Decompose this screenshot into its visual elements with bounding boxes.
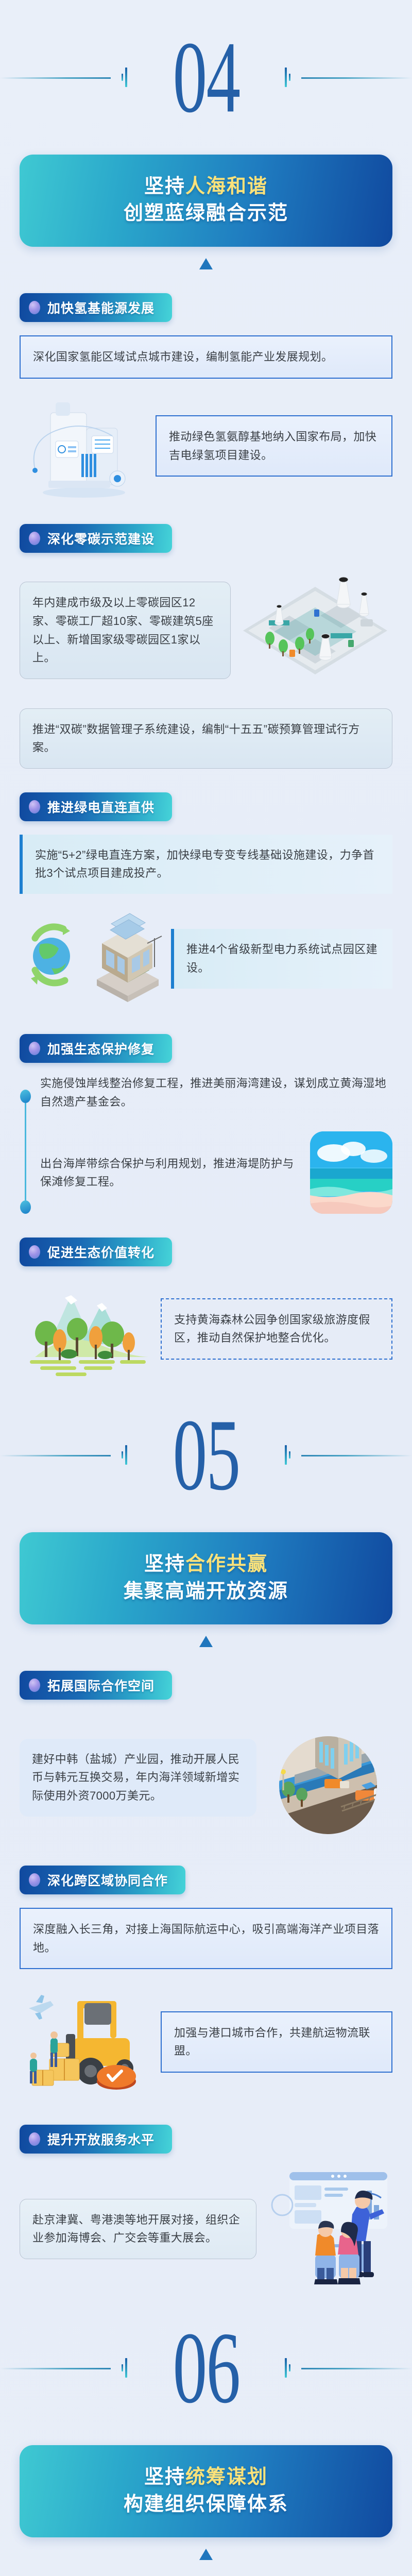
rail-dot-icon <box>20 1090 31 1103</box>
caret-down-icon <box>199 258 213 269</box>
body-text: 深化国家氢能区域试点城市建设，编制氢能产业发展规划。 <box>33 348 379 366</box>
divider-tick-left <box>122 67 127 87</box>
body-text: 推动绿色氢氨醇基地纳入国家布局，加快吉电绿氢项目建设。 <box>169 428 379 464</box>
content-block: 建好中韩（盐城）产业园，推动开展人民币与韩元互换交易，年内海洋领域新增实际使用外… <box>0 1700 412 1842</box>
section-banner-04: 坚持人海和谐 创塑蓝绿融合示范 <box>20 155 392 247</box>
banner-line-2: 集聚高端开放资源 <box>30 1578 382 1605</box>
divider-tick-left <box>122 1445 127 1465</box>
bullet-dot-icon <box>29 301 40 314</box>
subsection-pill-open-service[interactable]: 提升开放服务水平 <box>20 2125 172 2154</box>
subsection-heading-wrap: 促进生态价值转化 <box>0 1214 412 1266</box>
subsection-pill-green-power[interactable]: 推进绿电直连直供 <box>20 792 172 821</box>
hydrogen-plant-illustration <box>20 392 148 500</box>
banner-line1-highlight: 合作共赢 <box>185 1553 268 1575</box>
bullet-dot-icon <box>29 1245 40 1259</box>
body-text: 支持黄海森林公园争创国家级旅游度假区，推动自然保护地整合优化。 <box>174 1311 379 1347</box>
section-divider-05: 05 <box>0 1378 412 1532</box>
pill-label: 深化跨区域协同合作 <box>47 1871 168 1889</box>
green-energy-building-illustration <box>20 907 164 1010</box>
subsection-heading-wrap: 拓展国际合作空间 <box>0 1647 412 1700</box>
content-block: 推动绿色氢氨醇基地纳入国家布局，加快吉电绿氢项目建设。 <box>0 379 412 500</box>
rail-dot-icon <box>20 1200 31 1214</box>
body-text: 赴京津冀、粤港澳等地开展对接，组织企业参加海博会、广交会等重大展会。 <box>32 2211 244 2247</box>
divider-rule-right <box>301 2368 412 2369</box>
banner-line-2: 创塑蓝绿融合示范 <box>30 200 382 227</box>
divider-tick-right <box>285 2358 290 2378</box>
bullet-dot-icon <box>29 2132 40 2146</box>
bullet-dot-icon <box>29 1042 40 1055</box>
text-card: 加强与港口城市合作，共建航运物流联盟。 <box>161 2011 392 2073</box>
pill-label: 加快氢基能源发展 <box>47 298 154 317</box>
body-text: 实施侵蚀岸线整治修复工程，推进美丽海湾建设，谋划成立黄海湿地自然遗产基金会。 <box>40 1072 392 1131</box>
subsection-pill-international[interactable]: 拓展国际合作空间 <box>20 1671 172 1700</box>
subsection-heading-wrap: 完善组织推进机制 <box>0 2560 412 2576</box>
banner-line1-plain: 坚持 <box>144 1553 185 1575</box>
banner-line1-highlight: 人海和谐 <box>185 176 268 197</box>
content-block: 推进“双碳”数据管理子系统建设，编制“十五五”碳预算管理试行方案。 <box>0 695 412 769</box>
content-block: 深化国家氢能区域试点城市建设，编制氢能产业发展规划。 <box>0 322 412 379</box>
caret-down-icon <box>199 1636 213 1647</box>
caret-down-icon <box>199 2549 213 2560</box>
pill-label: 提升开放服务水平 <box>47 2130 154 2148</box>
body-text: 出台海岸带综合保护与利用规划，推进海堤防护与保滩修复工程。 <box>40 1155 303 1191</box>
rail-line <box>25 1103 26 1200</box>
banner-line1-plain: 坚持 <box>144 176 185 197</box>
section-number: 04 <box>173 26 239 128</box>
content-block: 支持黄海森林公园争创国家级旅游度假区，推动自然保护地整合优化。 <box>0 1266 412 1378</box>
section-banner-06: 坚持统筹谋划 构建组织保障体系 <box>20 2445 392 2537</box>
pill-label: 深化零碳示范建设 <box>47 529 154 548</box>
infographic-page: 04 坚持人海和谐 创塑蓝绿融合示范 加快氢基能源发展 深化国家氢能区域试点城市… <box>0 0 412 2576</box>
text-illustration-row: 年内建成市级及以上零碳园区12家、零碳工厂超10家、零碳建筑5座以上、新增国家级… <box>20 566 392 695</box>
banner-line-1: 坚持统筹谋划 <box>30 2464 382 2490</box>
divider-rule-left <box>0 2368 111 2369</box>
forest-park-illustration <box>20 1280 153 1378</box>
subsection-heading-wrap: 推进绿电直连直供 <box>0 769 412 821</box>
beach-photo-illustration <box>310 1131 392 1214</box>
subsection-heading-wrap: 深化零碳示范建设 <box>0 500 412 553</box>
text-illustration-row: 建好中韩（盐城）产业园，推动开展人民币与韩元互换交易，年内海洋领域新增实际使用外… <box>20 1713 392 1842</box>
body-text: 推进4个省级新型电力系统试点园区建设。 <box>186 940 380 977</box>
divider-tick-left <box>122 2358 127 2378</box>
text-illustration-row: 出台海岸带综合保护与利用规划，推进海堤防护与保滩修复工程。 <box>40 1131 392 1214</box>
divider-tick-right <box>285 67 290 87</box>
divider-rule-right <box>301 1455 412 1456</box>
subsection-heading-wrap: 加快氢基能源发展 <box>0 269 412 322</box>
pill-label: 推进绿电直连直供 <box>47 798 154 816</box>
bullet-dot-icon <box>29 1873 40 1887</box>
pill-label: 促进生态价值转化 <box>47 1243 154 1261</box>
subsection-pill-eco-restore[interactable]: 加强生态保护修复 <box>20 1034 172 1063</box>
illustration-text-row: 支持黄海森林公园争创国家级旅游度假区，推动自然保护地整合优化。 <box>20 1280 392 1378</box>
divider-rule-left <box>0 1455 111 1456</box>
content-block: 年内建成市级及以上零碳园区12家、零碳工厂超10家、零碳建筑5座以上、新增国家级… <box>0 553 412 695</box>
body-text: 建好中韩（盐城）产业园，推动开展人民币与韩元互换交易，年内海洋领域新增实际使用外… <box>32 1750 244 1805</box>
bullet-dot-icon <box>29 1679 40 1692</box>
subsection-pill-eco-value[interactable]: 促进生态价值转化 <box>20 1238 172 1266</box>
subsection-pill-hydrogen[interactable]: 加快氢基能源发展 <box>20 293 172 322</box>
banner-line1-plain: 坚持 <box>144 2466 185 2488</box>
text-card: 深化国家氢能区域试点城市建设，编制氢能产业发展规划。 <box>20 335 392 379</box>
subsection-pill-cross-region[interactable]: 深化跨区域协同合作 <box>20 1866 185 1894</box>
content-block: 加强与港口城市合作，共建航运物流联盟。 <box>0 1969 412 2101</box>
bullet-dot-icon <box>29 800 40 814</box>
industrial-park-illustration <box>264 1713 392 1842</box>
banner-line-1: 坚持人海和谐 <box>30 173 382 200</box>
subsection-pill-zero-carbon[interactable]: 深化零碳示范建设 <box>20 524 172 553</box>
text-card: 实施“5+2”绿电直连方案，加快绿电专变专线基础设施建设，力争首批3个试点项目建… <box>20 835 392 894</box>
timeline-rail <box>20 1072 31 1214</box>
illustration-text-row: 推动绿色氢氨醇基地纳入国家布局，加快吉电绿氢项目建设。 <box>20 392 392 500</box>
divider-rule-left <box>0 77 111 79</box>
content-block-rail: 实施侵蚀岸线整治修复工程，推进美丽海湾建设，谋划成立黄海湿地自然遗产基金会。 出… <box>0 1063 412 1214</box>
text-card: 建好中韩（盐城）产业园，推动开展人民币与韩元互换交易，年内海洋领域新增实际使用外… <box>20 1739 256 1817</box>
section-number: 05 <box>173 1404 239 1506</box>
section-divider-04: 04 <box>0 0 412 155</box>
pill-label: 拓展国际合作空间 <box>47 1676 154 1694</box>
section-number: 06 <box>173 2317 239 2419</box>
text-card: 赴京津冀、粤港澳等地开展对接，组织企业参加海博会、广交会等重大展会。 <box>20 2199 256 2259</box>
divider-tick-right <box>285 1445 290 1465</box>
subsection-heading-wrap: 提升开放服务水平 <box>0 2101 412 2154</box>
text-card: 推进“双碳”数据管理子系统建设，编制“十五五”碳预算管理试行方案。 <box>20 708 392 769</box>
text-card: 推进4个省级新型电力系统试点园区建设。 <box>171 929 392 988</box>
pill-label: 加强生态保护修复 <box>47 1039 154 1058</box>
content-block: 赴京津冀、粤港澳等地开展对接，组织企业参加海博会、广交会等重大展会。 <box>0 2154 412 2291</box>
section-banner-05: 坚持合作共赢 集聚高端开放资源 <box>20 1532 392 1624</box>
divider-rule-right <box>301 77 412 79</box>
illustration-text-row: 加强与港口城市合作，共建航运物流联盟。 <box>20 1982 392 2101</box>
body-text: 年内建成市级及以上零碳园区12家、零碳工厂超10家、零碳建筑5座以上、新增国家级… <box>32 594 218 667</box>
text-card: 年内建成市级及以上零碳园区12家、零碳工厂超10家、零碳建筑5座以上、新增国家级… <box>20 582 231 679</box>
content-block: 推进4个省级新型电力系统试点园区建设。 <box>0 894 412 1010</box>
banner-line-2: 构建组织保障体系 <box>30 2491 382 2518</box>
business-meeting-illustration <box>264 2167 392 2291</box>
subsection-heading-wrap: 深化跨区域协同合作 <box>0 1842 412 1894</box>
zero-carbon-park-illustration <box>238 566 392 695</box>
banner-line1-highlight: 统筹谋划 <box>185 2466 268 2488</box>
illustration-text-row: 推进4个省级新型电力系统试点园区建设。 <box>20 907 392 1010</box>
text-illustration-row: 赴京津冀、粤港澳等地开展对接，组织企业参加海博会、广交会等重大展会。 <box>20 2167 392 2291</box>
body-text: 深度融入长三角，对接上海国际航运中心，吸引高端海洋产业项目落地。 <box>33 1920 379 1957</box>
body-text: 加强与港口城市合作，共建航运物流联盟。 <box>174 2024 379 2060</box>
bullet-dot-icon <box>29 532 40 545</box>
text-card: 支持黄海森林公园争创国家级旅游度假区，推动自然保护地整合优化。 <box>161 1298 392 1360</box>
content-block: 实施“5+2”绿电直连方案，加快绿电专变专线基础设施建设，力争首批3个试点项目建… <box>0 821 412 894</box>
body-text: 实施“5+2”绿电直连方案，加快绿电专变专线基础设施建设，力争首批3个试点项目建… <box>35 846 380 883</box>
content-block: 深度融入长三角，对接上海国际航运中心，吸引高端海洋产业项目落地。 <box>0 1894 412 1969</box>
banner-line-1: 坚持合作共赢 <box>30 1551 382 1578</box>
subsection-heading-wrap: 加强生态保护修复 <box>0 1010 412 1063</box>
text-card: 推动绿色氢氨醇基地纳入国家布局，加快吉电绿氢项目建设。 <box>156 415 392 477</box>
text-card: 深度融入长三角，对接上海国际航运中心，吸引高端海洋产业项目落地。 <box>20 1908 392 1969</box>
logistics-forklift-illustration <box>20 1982 153 2101</box>
body-text: 推进“双碳”数据管理子系统建设，编制“十五五”碳预算管理试行方案。 <box>32 720 380 757</box>
section-divider-06: 06 <box>0 2291 412 2445</box>
